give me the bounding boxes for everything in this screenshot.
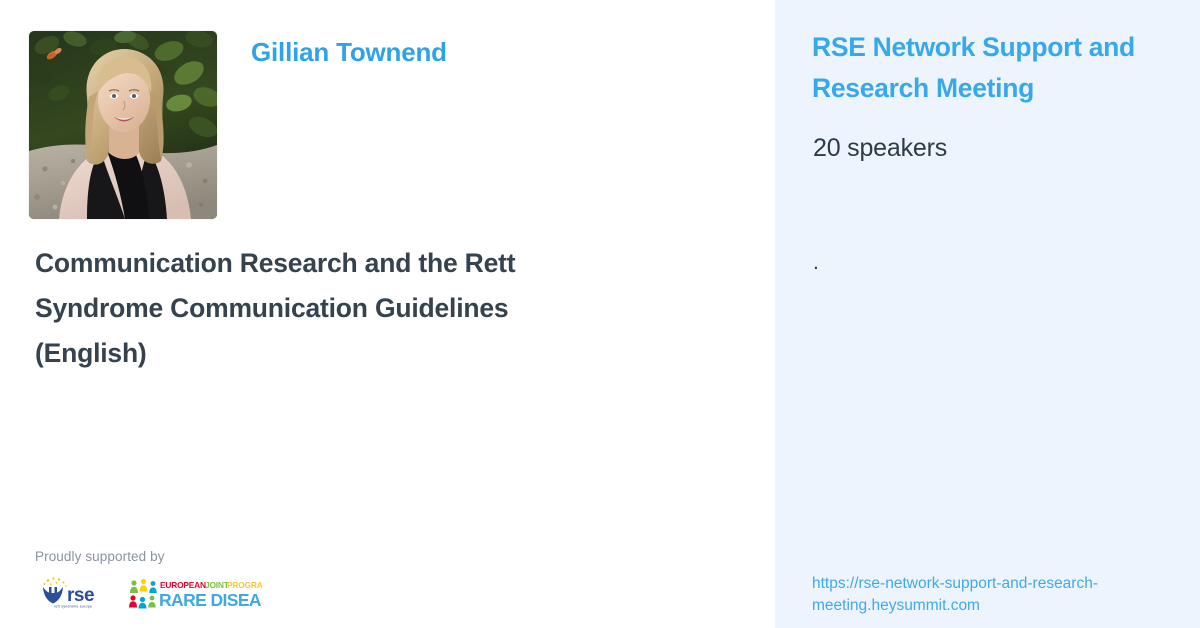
svg-text:rse: rse bbox=[67, 585, 94, 606]
event-share-card: Gillian Townend Communication Research a… bbox=[0, 0, 1200, 628]
supporters-section: Proudly supported by bbox=[35, 549, 262, 610]
svg-text:PROGRAMME: PROGRAMME bbox=[227, 580, 262, 590]
speakers-count: 20 speakers bbox=[813, 134, 947, 163]
rse-logo: rse rett syndrome europe bbox=[35, 576, 107, 610]
event-description: . bbox=[813, 248, 1163, 278]
supporters-label: Proudly supported by bbox=[35, 549, 262, 564]
speaker-header: Gillian Townend bbox=[29, 31, 447, 219]
rse-logo-icon: rse rett syndrome europe bbox=[35, 576, 107, 610]
ejp-rare-diseases-logo-icon: EUROPEAN JOINT PROGRAMME RARE DISEASES bbox=[127, 576, 262, 610]
speaker-avatar bbox=[29, 31, 217, 219]
svg-text:rett syndrome europe: rett syndrome europe bbox=[54, 605, 92, 609]
ejp-rare-diseases-logo: EUROPEAN JOINT PROGRAMME RARE DISEASES bbox=[127, 576, 262, 610]
supporter-logo-row: rse rett syndrome europe bbox=[35, 576, 262, 610]
event-panel: RSE Network Support and Research Meeting… bbox=[775, 0, 1200, 628]
speaker-name: Gillian Townend bbox=[251, 37, 447, 68]
svg-text:EUROPEAN: EUROPEAN bbox=[160, 580, 206, 590]
event-title: RSE Network Support and Research Meeting bbox=[812, 27, 1162, 109]
event-url[interactable]: https://rse-network-support-and-research… bbox=[812, 573, 1162, 617]
talk-title: Communication Research and the Rett Synd… bbox=[35, 241, 595, 376]
speaker-photo-illustration bbox=[29, 31, 217, 219]
speaker-panel: Gillian Townend Communication Research a… bbox=[0, 0, 775, 628]
svg-text:RARE DISEASES: RARE DISEASES bbox=[159, 590, 262, 610]
